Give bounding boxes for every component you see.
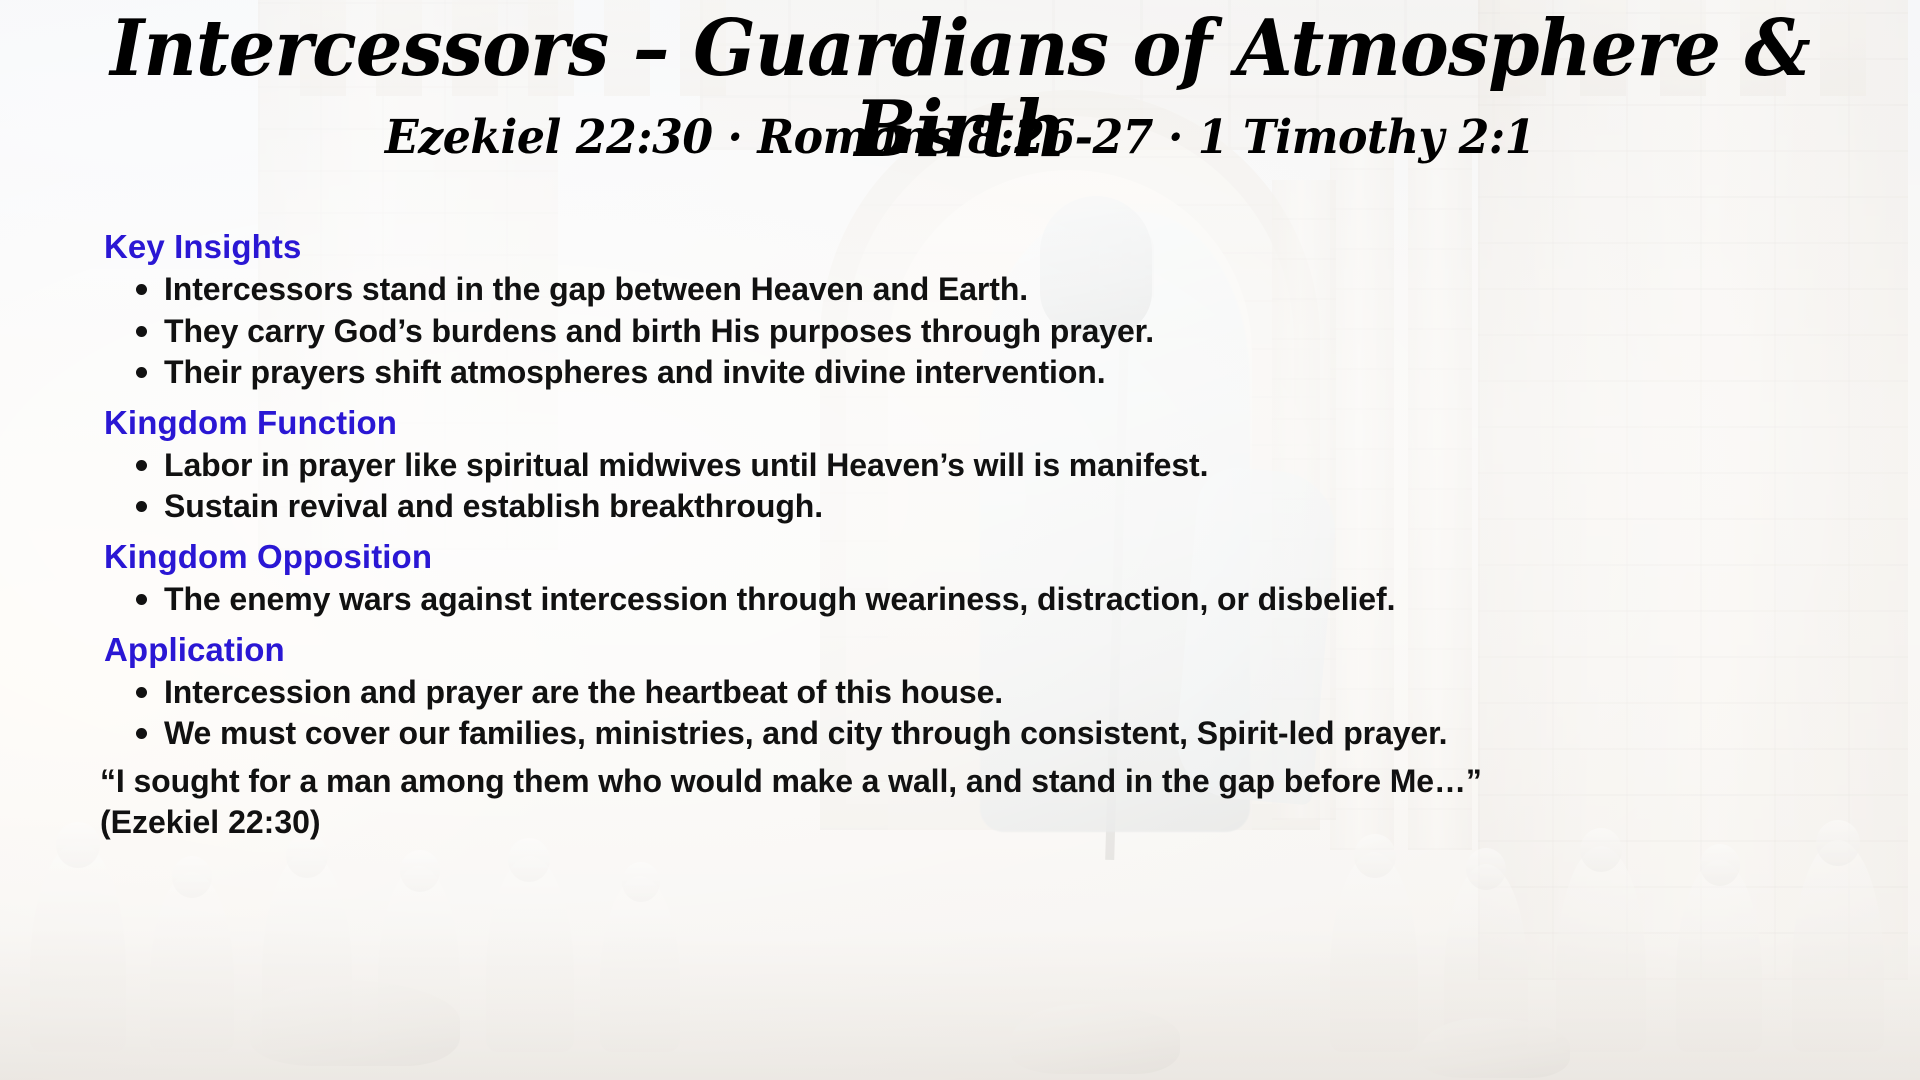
list-item: Intercession and prayer are the heartbea… — [100, 672, 1840, 714]
section-kingdom-function: Kingdom Function Labor in prayer like sp… — [100, 406, 1840, 528]
slide-scripture-references: Ezekiel 22:30 · Romans 8:26-27 · 1 Timot… — [58, 112, 1863, 164]
bullet-dot-icon — [136, 367, 147, 378]
list-item: Their prayers shift atmospheres and invi… — [100, 352, 1840, 394]
list-item: Labor in prayer like spiritual midwives … — [100, 445, 1840, 487]
section-kingdom-opposition: Kingdom Opposition The enemy wars agains… — [100, 540, 1840, 621]
section-application: Application Intercession and prayer are … — [100, 633, 1840, 755]
list-item-text: Sustain revival and establish breakthrou… — [164, 488, 823, 524]
section-heading: Application — [104, 633, 1840, 666]
list-item-text: They carry God’s burdens and birth His p… — [164, 313, 1154, 349]
bullet-dot-icon — [136, 594, 147, 605]
section-key-insights: Key Insights Intercessors stand in the g… — [100, 230, 1840, 394]
bullet-list: The enemy wars against intercession thro… — [100, 579, 1840, 621]
list-item: The enemy wars against intercession thro… — [100, 579, 1840, 621]
bullet-list: Intercessors stand in the gap between He… — [100, 269, 1840, 394]
section-heading: Key Insights — [104, 230, 1840, 263]
bullet-dot-icon — [136, 501, 147, 512]
list-item-text: Intercessors stand in the gap between He… — [164, 271, 1028, 307]
list-item: We must cover our families, ministries, … — [100, 713, 1840, 755]
list-item-text: We must cover our families, ministries, … — [164, 715, 1447, 751]
closing-quote: “I sought for a man among them who would… — [100, 761, 1840, 803]
bullet-dot-icon — [136, 728, 147, 739]
bullet-dot-icon — [136, 326, 147, 337]
list-item: Intercessors stand in the gap between He… — [100, 269, 1840, 311]
bullet-list: Intercession and prayer are the heartbea… — [100, 672, 1840, 755]
bullet-dot-icon — [136, 284, 147, 295]
presentation-slide: Intercessors – Guardians of Atmosphere &… — [0, 0, 1920, 1080]
slide-body: Key Insights Intercessors stand in the g… — [100, 230, 1840, 844]
bullet-list: Labor in prayer like spiritual midwives … — [100, 445, 1840, 528]
section-heading: Kingdom Function — [104, 406, 1840, 439]
slide-content: Intercessors – Guardians of Atmosphere &… — [0, 0, 1920, 1080]
list-item-text: Labor in prayer like spiritual midwives … — [164, 447, 1208, 483]
list-item-text: Their prayers shift atmospheres and invi… — [164, 354, 1106, 390]
closing-quote-reference: (Ezekiel 22:30) — [100, 802, 1840, 844]
list-item-text: Intercession and prayer are the heartbea… — [164, 674, 1003, 710]
section-heading: Kingdom Opposition — [104, 540, 1840, 573]
list-item: Sustain revival and establish breakthrou… — [100, 486, 1840, 528]
bullet-dot-icon — [136, 687, 147, 698]
list-item: They carry God’s burdens and birth His p… — [100, 311, 1840, 353]
list-item-text: The enemy wars against intercession thro… — [164, 581, 1395, 617]
bullet-dot-icon — [136, 460, 147, 471]
